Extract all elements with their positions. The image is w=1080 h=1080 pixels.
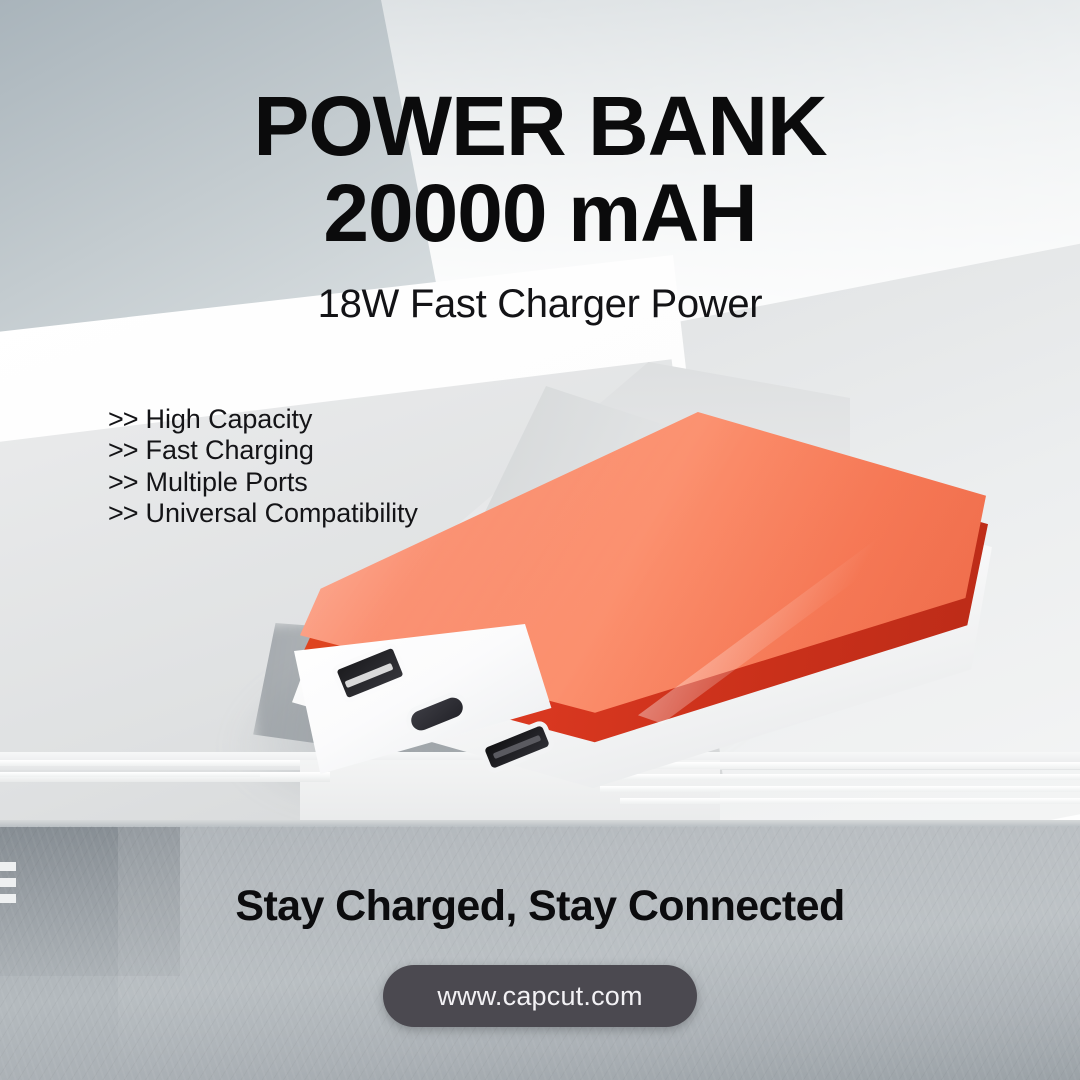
list-item: >>Fast Charging bbox=[108, 435, 628, 466]
tagline: Stay Charged, Stay Connected bbox=[0, 882, 1080, 931]
website-url-pill[interactable]: www.capcut.com bbox=[383, 965, 697, 1027]
list-item: >>Universal Compatibility bbox=[108, 498, 628, 529]
feature-label: High Capacity bbox=[146, 404, 313, 434]
headline-line-1: POWER BANK bbox=[253, 79, 826, 173]
chevron-marker-icon: >> bbox=[108, 435, 138, 466]
feature-label: Multiple Ports bbox=[146, 467, 308, 497]
website-url-text: www.capcut.com bbox=[437, 981, 642, 1012]
headline-line-2: 20000 mAH bbox=[0, 175, 1080, 254]
chevron-marker-icon: >> bbox=[108, 498, 138, 529]
list-item: >>High Capacity bbox=[108, 404, 628, 435]
ledge-slat bbox=[0, 772, 260, 777]
feature-label: Universal Compatibility bbox=[146, 498, 418, 528]
chevron-marker-icon: >> bbox=[108, 404, 138, 435]
chevron-marker-icon: >> bbox=[108, 467, 138, 498]
counter-tick-mark bbox=[0, 862, 16, 871]
counter-texture bbox=[0, 826, 1080, 1080]
ledge-slat bbox=[0, 760, 300, 766]
page-title: POWER BANK 20000 mAH bbox=[0, 86, 1080, 253]
feature-list: >>High Capacity >>Fast Charging >>Multip… bbox=[108, 404, 628, 529]
product-poster: POWER BANK 20000 mAH 18W Fast Charger Po… bbox=[0, 0, 1080, 1080]
subtitle: 18W Fast Charger Power bbox=[0, 282, 1080, 327]
list-item: >>Multiple Ports bbox=[108, 467, 628, 498]
feature-label: Fast Charging bbox=[146, 435, 314, 465]
